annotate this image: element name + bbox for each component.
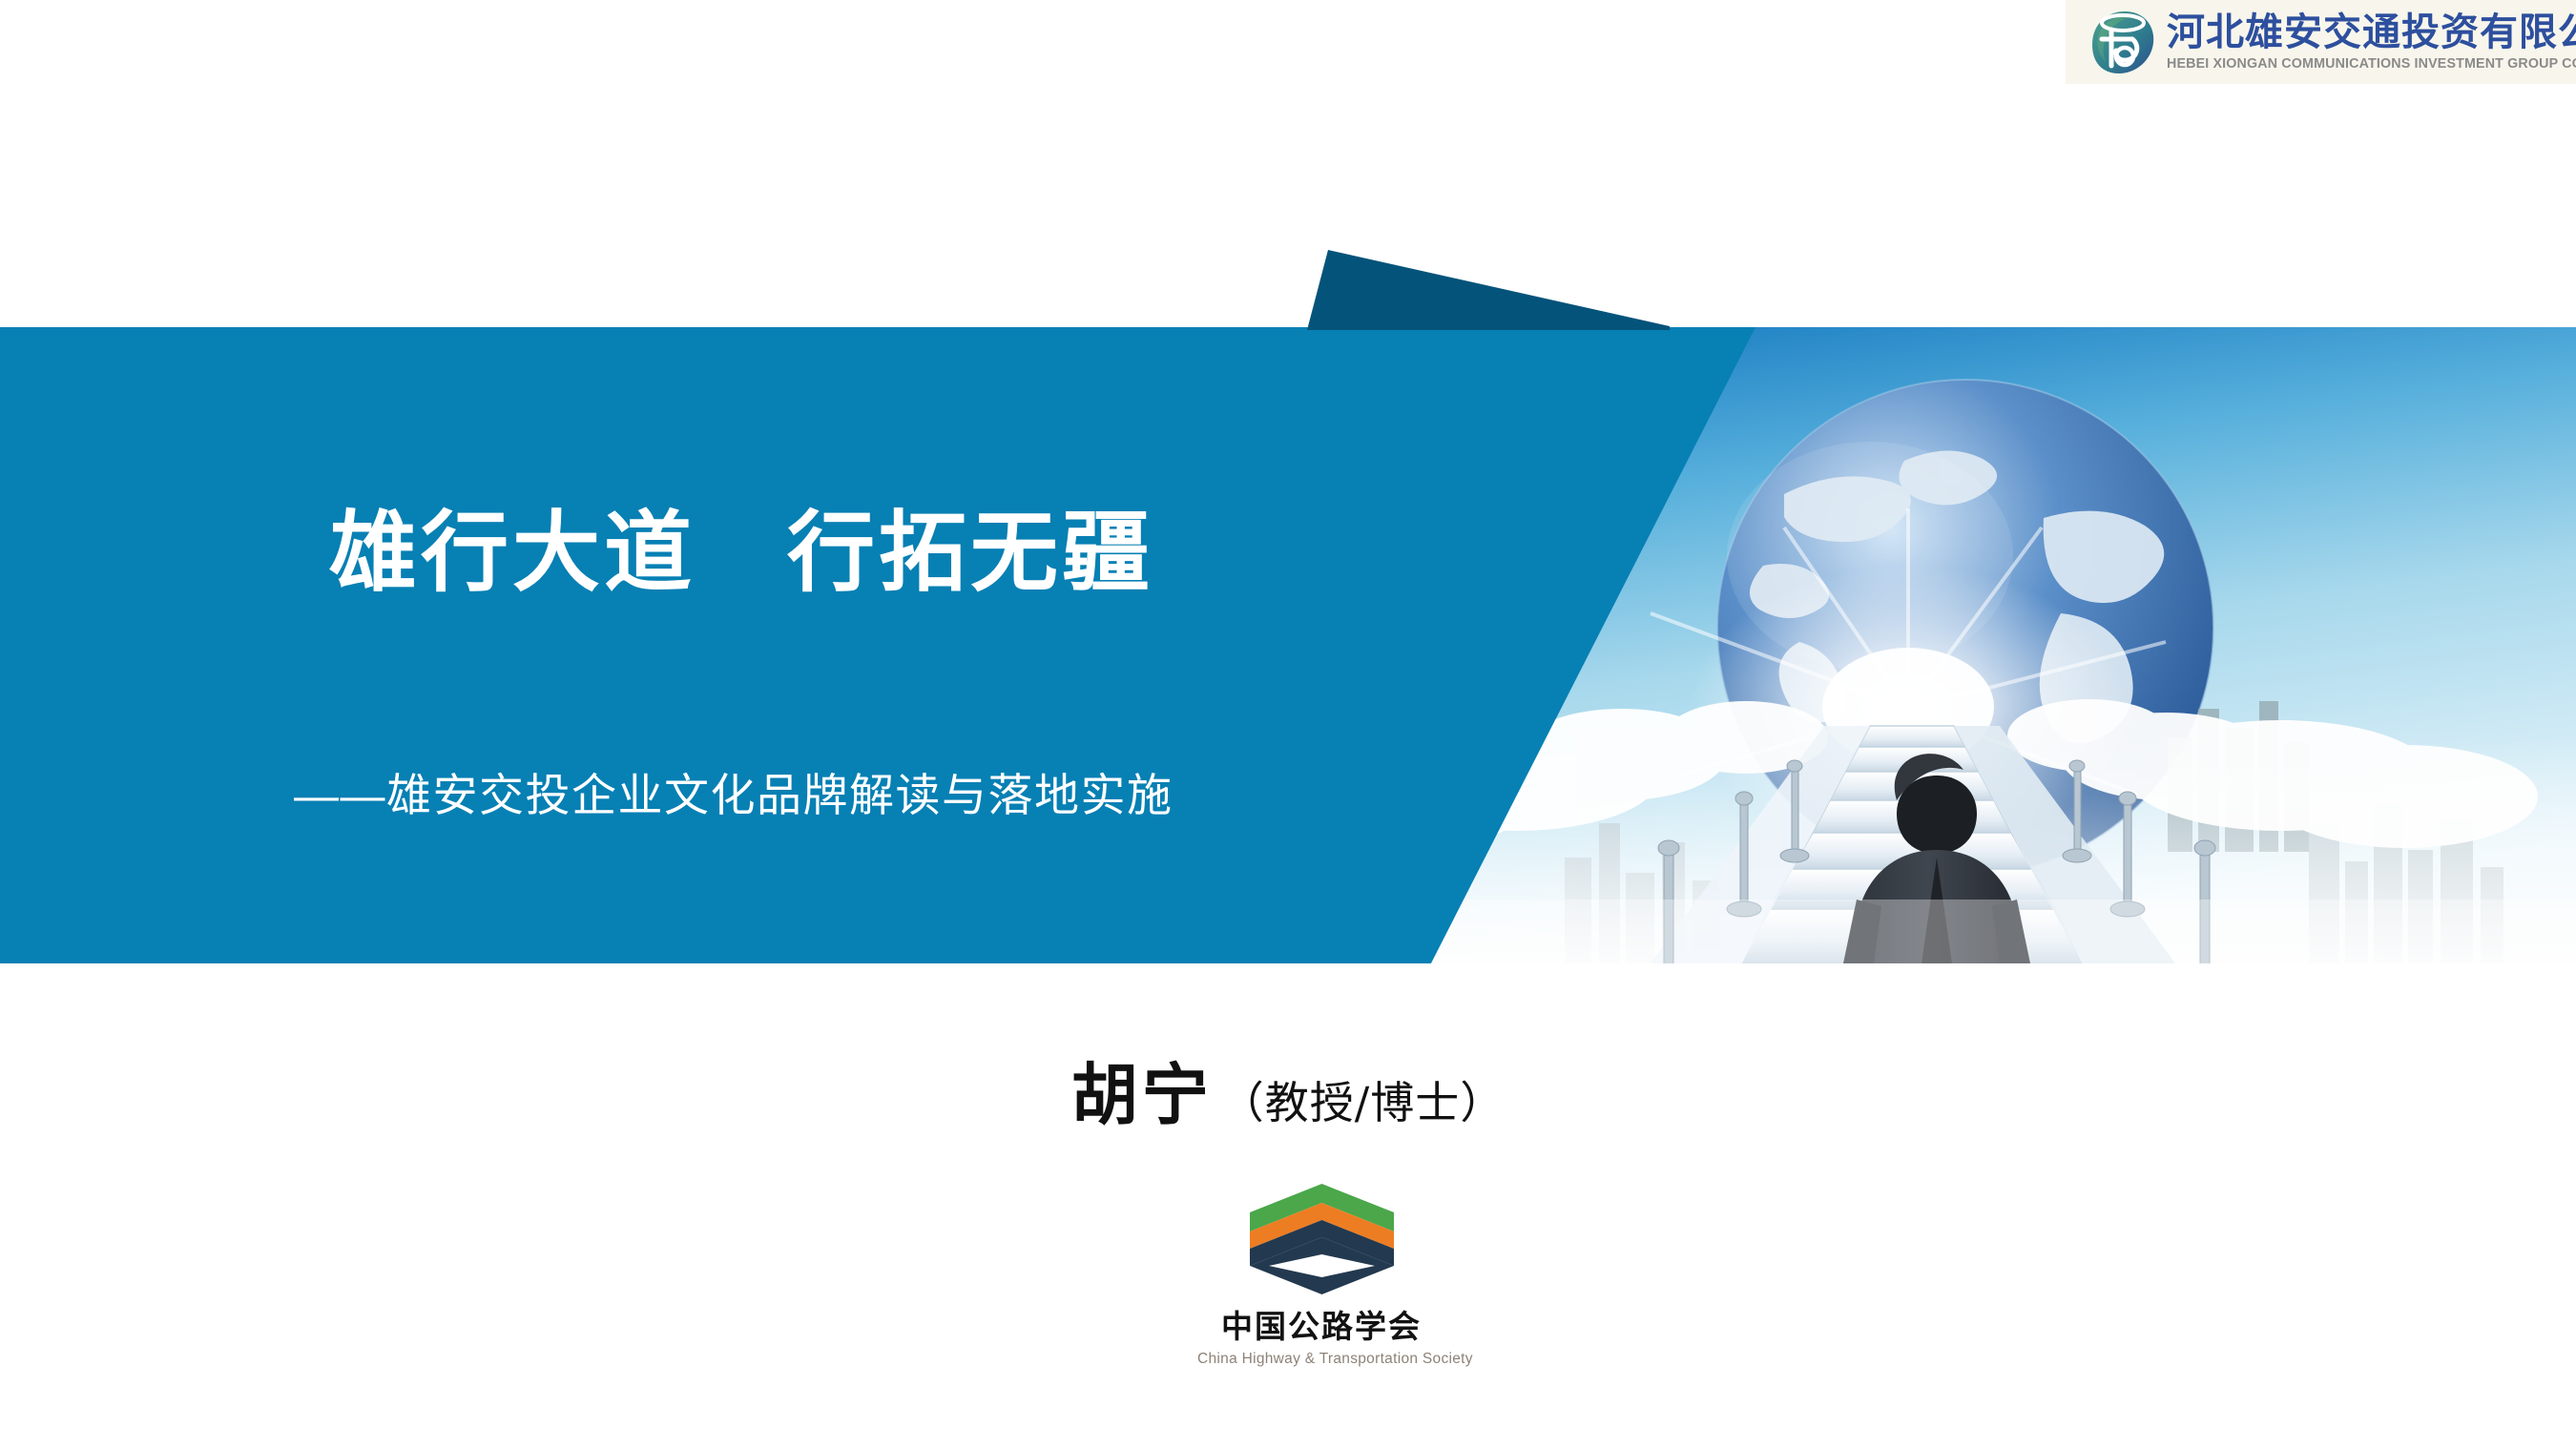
company-name-cn: 河北雄安交通投资有限公司 <box>2167 13 2576 52</box>
svg-text:中国公路学会: 中国公路学会 <box>1221 1308 1422 1345</box>
presenter-name: 胡宁 <box>1071 1055 1213 1134</box>
banner-accent-wedge <box>1298 250 1670 330</box>
society-name-en: China Highway & Transportation Society <box>1197 1351 1445 1368</box>
presenter-credentials: （教授/博士） <box>1220 1077 1506 1128</box>
title-slide: 河北雄安交通投资有限公司 HEBEI XIONGAN COMMUNICATION… <box>0 0 2576 1448</box>
company-logo: 河北雄安交通投资有限公司 HEBEI XIONGAN COMMUNICATION… <box>2066 0 2576 84</box>
company-logo-mark-icon <box>2083 7 2157 77</box>
company-logo-text: 河北雄安交通投资有限公司 HEBEI XIONGAN COMMUNICATION… <box>2167 13 2576 72</box>
staircase-to-globe-photo <box>1336 327 2576 963</box>
page-title: 雄行大道 行拓无疆 <box>329 507 1153 600</box>
society-name-cn: 中国公路学会 中国公路学会 <box>1197 1304 1445 1348</box>
hero-banner <box>0 327 2576 963</box>
hexagonal-cube-logo-icon <box>1234 1178 1410 1300</box>
society-logo: 中国公路学会 中国公路学会 China Highway & Transporta… <box>1197 1178 1445 1368</box>
company-name-en: HEBEI XIONGAN COMMUNICATIONS INVESTMENT … <box>2167 57 2576 72</box>
page-subtitle: ——雄安交投企业文化品牌解读与落地实施 <box>294 758 1174 824</box>
presenter-line: 胡宁（教授/博士） <box>0 1042 2576 1138</box>
